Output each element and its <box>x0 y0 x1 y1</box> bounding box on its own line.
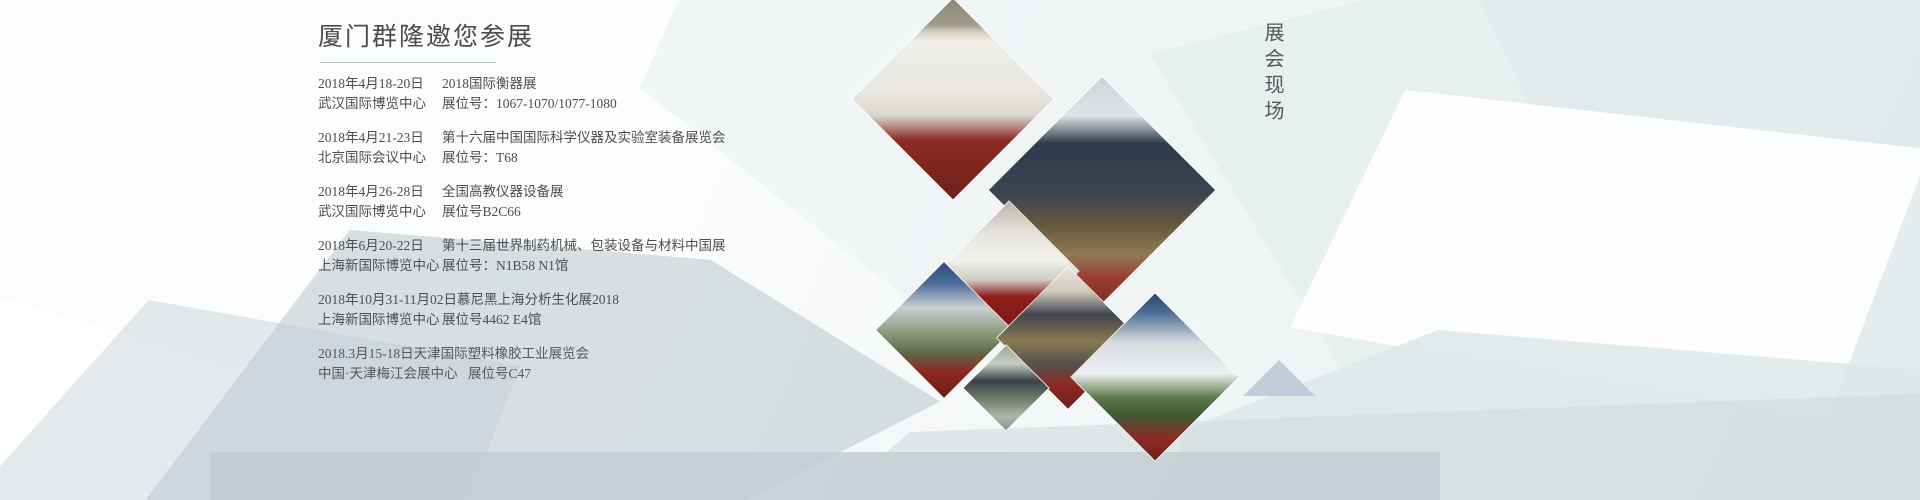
event-row-secondary: 武汉国际博览中心 展位号B2C66 <box>318 202 838 222</box>
event-date: 2018年10月31-11月02日 <box>318 290 457 310</box>
event-venue: 武汉国际博览中心 <box>318 94 442 114</box>
event-row-primary: 2018年10月31-11月02日 慕尼黑上海分析生化展2018 <box>318 290 838 310</box>
event-booth: 展位号B2C66 <box>442 202 521 222</box>
event-info-panel: 厦门群隆邀您参展 2018年4月18-20日 2018国际衡器展 武汉国际博览中… <box>318 22 838 398</box>
event-venue: 上海新国际博览中心 <box>318 256 442 276</box>
photo-collage <box>840 0 1260 494</box>
event-item: 2018年4月26-28日 全国高教仪器设备展 武汉国际博览中心 展位号B2C6… <box>318 182 838 222</box>
event-booth: 展位号4462 E4馆 <box>442 310 541 330</box>
event-booth: 展位号：1067-1070/1077-1080 <box>442 94 617 114</box>
event-booth: 展位号C47 <box>468 364 531 384</box>
event-row-primary: 2018年6月20-22日 第十三届世界制药机械、包装设备与材料中国展 <box>318 236 838 256</box>
vertical-heading: 展会现场 <box>1258 22 1287 126</box>
event-item: 2018年6月20-22日 第十三届世界制药机械、包装设备与材料中国展 上海新国… <box>318 236 838 276</box>
event-date: 2018年4月18-20日 <box>318 74 442 94</box>
event-date: 2018年4月21-23日 <box>318 128 442 148</box>
event-row-secondary: 中国·天津梅江会展中心 展位号C47 <box>318 364 838 384</box>
event-row-secondary: 上海新国际博览中心 展位号：N1B58 N1馆 <box>318 256 838 276</box>
event-name: 全国高教仪器设备展 <box>442 182 564 202</box>
event-name: 2018国际衡器展 <box>442 74 537 94</box>
event-venue: 中国·天津梅江会展中心 <box>318 364 468 384</box>
page-title: 厦门群隆邀您参展 <box>318 22 838 53</box>
event-item: 2018年10月31-11月02日 慕尼黑上海分析生化展2018 上海新国际博览… <box>318 290 838 330</box>
event-row-primary: 2018年4月21-23日 第十六届中国国际科学仪器及实验室装备展览会 <box>318 128 838 148</box>
event-venue: 上海新国际博览中心 <box>318 310 442 330</box>
event-item: 2018.3月15-18日天津国际塑料橡胶工业展览会 中国·天津梅江会展中心 展… <box>318 344 838 384</box>
event-row-secondary: 北京国际会议中心 展位号：T68 <box>318 148 838 168</box>
exhibition-banner: 厦门群隆邀您参展 2018年4月18-20日 2018国际衡器展 武汉国际博览中… <box>0 0 1920 500</box>
event-item: 2018年4月21-23日 第十六届中国国际科学仪器及实验室装备展览会 北京国际… <box>318 128 838 168</box>
event-name: 第十三届世界制药机械、包装设备与材料中国展 <box>442 236 726 256</box>
event-row-primary: 2018年4月26-28日 全国高教仪器设备展 <box>318 182 838 202</box>
event-name: 慕尼黑上海分析生化展2018 <box>457 290 619 310</box>
event-row-secondary: 上海新国际博览中心 展位号4462 E4馆 <box>318 310 838 330</box>
event-date: 2018年6月20-22日 <box>318 236 442 256</box>
event-row-primary: 2018年4月18-20日 2018国际衡器展 <box>318 74 838 94</box>
event-booth: 展位号：T68 <box>442 148 518 168</box>
event-booth: 展位号：N1B58 N1馆 <box>442 256 568 276</box>
event-row-primary: 2018.3月15-18日天津国际塑料橡胶工业展览会 <box>318 344 838 364</box>
event-date: 2018.3月15-18日天津国际塑料橡胶工业展览会 <box>318 344 589 364</box>
event-name: 第十六届中国国际科学仪器及实验室装备展览会 <box>442 128 726 148</box>
event-venue: 北京国际会议中心 <box>318 148 442 168</box>
event-venue: 武汉国际博览中心 <box>318 202 442 222</box>
event-item: 2018年4月18-20日 2018国际衡器展 武汉国际博览中心 展位号：106… <box>318 74 838 114</box>
event-row-secondary: 武汉国际博览中心 展位号：1067-1070/1077-1080 <box>318 94 838 114</box>
title-underline <box>320 62 496 63</box>
event-date: 2018年4月26-28日 <box>318 182 442 202</box>
